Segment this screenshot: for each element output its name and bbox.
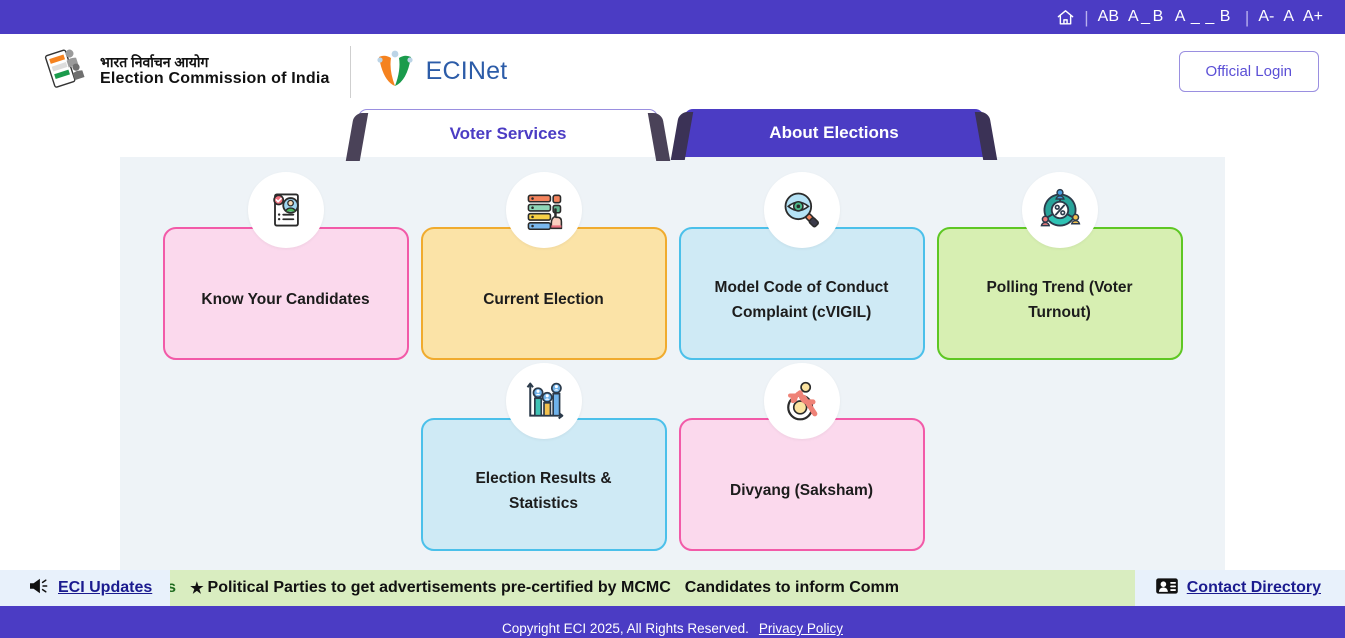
card-label: Election Results & Statistics <box>436 467 651 515</box>
brand-hindi-title: भारत निर्वाचन आयोग <box>100 54 330 71</box>
ticker-item-text: tical Parties <box>170 579 176 597</box>
eci-emblem-icon <box>38 43 90 100</box>
tab-wing-left <box>346 113 368 161</box>
ballot-list-icon <box>506 172 582 248</box>
pie-chart-people-icon <box>1022 172 1098 248</box>
tab-about-elections[interactable]: About Elections <box>684 109 984 157</box>
ticker-item-text: Candidates to inform Comm <box>685 579 899 597</box>
font-increase-button[interactable]: A+ <box>1303 8 1323 26</box>
site-header: भारत निर्वाचन आयोग Election Commission o… <box>0 34 1345 109</box>
ticker-item-1[interactable]: tical Parties <box>170 579 176 597</box>
letter-spacing-normal-button[interactable]: AB <box>1098 8 1119 26</box>
card-label: Model Code of Conduct Complaint (cVIGIL) <box>694 276 909 324</box>
tab-wing-right <box>648 113 670 161</box>
magnifier-eye-icon <box>764 172 840 248</box>
about-elections-panel: Know Your Candidates <box>120 157 1225 582</box>
bar-chart-people-icon <box>506 363 582 439</box>
card-label: Know Your Candidates <box>185 288 385 312</box>
tab-wing-left <box>671 112 693 160</box>
tab-voter-services-label: Voter Services <box>450 124 567 144</box>
tab-about-elections-label: About Elections <box>769 123 898 143</box>
ticker-item-2[interactable]: ★ Political Parties to get advertisement… <box>190 579 671 597</box>
ecinet-brand[interactable]: ECINet <box>373 47 508 96</box>
accessibility-topbar: | AB A_B A__B | A- A A+ <box>0 0 1345 34</box>
card-row-2: Election Results & Statistics Divyang (S… <box>120 360 1225 551</box>
card-label: Divyang (Saksham) <box>714 479 889 503</box>
card-polling-trend-voter-turnout[interactable]: Polling Trend (Voter Turnout) <box>937 227 1183 360</box>
eci-brand[interactable]: भारत निर्वाचन आयोग Election Commission o… <box>38 43 330 100</box>
home-icon[interactable] <box>1056 8 1075 27</box>
star-icon: ★ <box>190 579 203 597</box>
contact-directory-group[interactable]: Contact Directory <box>1135 577 1345 600</box>
tab-wing-right <box>975 112 997 160</box>
card-label: Current Election <box>467 288 620 312</box>
card-label: Polling Trend (Voter Turnout) <box>952 276 1167 324</box>
copyright-text: Copyright ECI 2025, All Rights Reserved. <box>502 621 749 636</box>
contact-card-icon <box>1155 577 1179 600</box>
card-row-1: Know Your Candidates <box>120 157 1225 360</box>
topbar-divider-1: | <box>1084 9 1088 26</box>
brand-english-title: Election Commission of India <box>100 70 330 89</box>
news-ticker: ECI Updates tical Parties ★ Political Pa… <box>0 570 1345 606</box>
contact-directory-link[interactable]: Contact Directory <box>1187 579 1321 597</box>
official-login-button[interactable]: Official Login <box>1179 51 1319 92</box>
card-current-election[interactable]: Current Election <box>421 227 667 360</box>
letter-spacing-wide-button[interactable]: A__B <box>1175 8 1236 26</box>
card-election-results-statistics[interactable]: Election Results & Statistics <box>421 418 667 551</box>
candidate-document-icon <box>248 172 324 248</box>
megaphone-icon <box>28 577 50 600</box>
ecinet-label: ECINet <box>426 57 508 86</box>
letter-spacing-medium-button[interactable]: A_B <box>1128 8 1166 26</box>
eci-updates-group[interactable]: ECI Updates <box>0 577 170 600</box>
font-normal-button[interactable]: A <box>1283 8 1294 26</box>
ticker-item-3[interactable]: Candidates to inform Comm <box>685 579 899 597</box>
wheelchair-icon <box>764 363 840 439</box>
ticker-marquee[interactable]: tical Parties ★ Political Parties to get… <box>170 570 1135 606</box>
site-footer: Copyright ECI 2025, All Rights Reserved.… <box>0 606 1345 638</box>
card-divyang-saksham[interactable]: Divyang (Saksham) <box>679 418 925 551</box>
card-mcc-complaint-cvigil[interactable]: Model Code of Conduct Complaint (cVIGIL) <box>679 227 925 360</box>
tab-voter-services[interactable]: Voter Services <box>358 109 658 157</box>
ticker-item-text: Political Parties to get advertisements … <box>208 579 671 597</box>
privacy-policy-link[interactable]: Privacy Policy <box>759 621 843 636</box>
tab-bar: Voter Services About Elections <box>0 109 1345 157</box>
topbar-divider-2: | <box>1245 9 1249 26</box>
ecinet-logo-icon <box>373 47 417 96</box>
eci-updates-link[interactable]: ECI Updates <box>58 579 152 597</box>
card-know-your-candidates[interactable]: Know Your Candidates <box>163 227 409 360</box>
font-decrease-button[interactable]: A- <box>1258 8 1274 26</box>
header-divider <box>350 46 351 98</box>
